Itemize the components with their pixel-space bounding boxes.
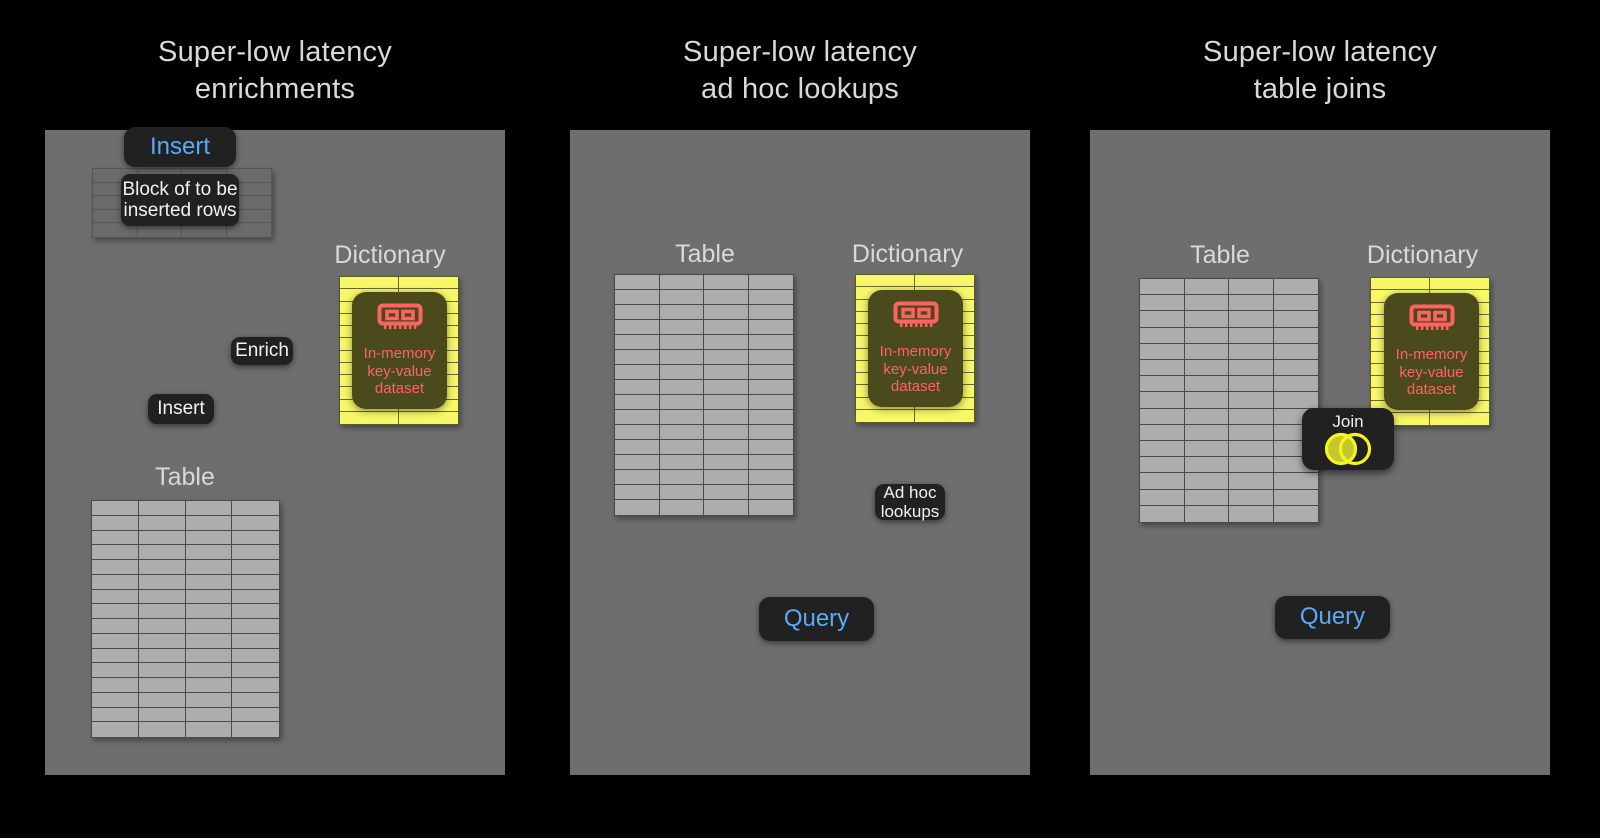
ram-icon [377,303,423,340]
caption-dictionary-3: Dictionary [1330,241,1515,269]
in-memory-dataset-label-3: In-memory key-value dataset [1396,346,1468,398]
in-memory-dataset-label-1: In-memory key-value dataset [364,345,436,397]
panel-title-enrichments: Super-low latency enrichments [45,34,505,108]
tag-block-of-rows[interactable]: Block of to be inserted rows [121,174,239,226]
diagram-canvas: Super-low latency enrichments Insert Blo… [0,0,1600,838]
venn-diagram-icon [1320,432,1376,471]
tag-insert-top[interactable]: Insert [124,127,236,167]
table-grid-3 [1139,278,1319,523]
tag-query-3[interactable]: Query [1275,596,1390,639]
ram-icon [1409,304,1455,341]
ram-icon [893,301,939,338]
tag-query-2[interactable]: Query [759,597,874,641]
join-label: Join [1332,412,1363,431]
join-box[interactable]: Join [1302,408,1394,470]
in-memory-dataset-box-2: In-memory key-value dataset [868,290,963,407]
caption-table-2: Table [610,240,800,268]
in-memory-dataset-box-1: In-memory key-value dataset [352,292,447,409]
panel-title-table-joins: Super-low latency table joins [1090,34,1550,108]
tag-insert-bottom[interactable]: Insert [148,394,214,424]
panel-title-ad-hoc-lookups: Super-low latency ad hoc lookups [570,34,1030,108]
in-memory-dataset-box-3: In-memory key-value dataset [1384,293,1479,410]
caption-dictionary-1: Dictionary [300,241,480,269]
tag-ad-hoc-lookups[interactable]: Ad hoc lookups [875,484,945,520]
table-grid-1 [91,500,280,738]
caption-table-1: Table [90,463,280,491]
caption-table-3: Table [1125,241,1315,269]
table-grid-2 [614,274,794,516]
in-memory-dataset-label-2: In-memory key-value dataset [880,343,952,395]
tag-enrich[interactable]: Enrich [231,337,293,365]
caption-dictionary-2: Dictionary [815,240,1000,268]
